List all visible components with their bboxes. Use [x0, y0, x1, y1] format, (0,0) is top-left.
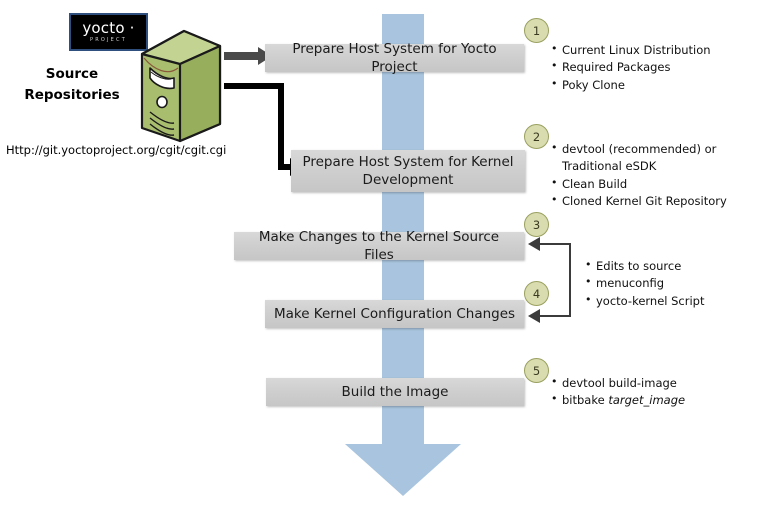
bullet-list-step-5: devtool build-image bitbake target_image — [551, 375, 685, 410]
list-item: Current Linux Distribution — [551, 42, 711, 59]
list-item: Poky Clone — [551, 77, 711, 94]
bitbake-target-image: target_image — [608, 393, 685, 407]
bullet-list-step-1: Current Linux Distribution Required Pack… — [551, 42, 711, 94]
list-item: Edits to source — [585, 258, 705, 275]
connector-server-to-step1 — [224, 52, 260, 60]
source-label-line2: Repositories — [8, 85, 136, 106]
step-circle-3: 3 — [524, 212, 549, 237]
list-item: Cloned Kernel Git Repository — [551, 193, 727, 210]
step-circle-5: 5 — [524, 358, 549, 383]
step-circle-2: 2 — [524, 124, 549, 149]
connector-server-to-step2-horizontal — [224, 83, 284, 89]
bracket-top-step-3 — [540, 243, 571, 245]
diagram-canvas: yocto · PROJECT Source Repositories Http… — [0, 0, 769, 517]
connector-server-to-step2-vertical — [278, 83, 284, 170]
list-item: devtool build-image — [551, 375, 685, 392]
server-tower-icon — [138, 28, 224, 144]
bullet-list-steps-3-4: Edits to source menuconfig yocto-kernel … — [585, 258, 705, 310]
source-repository-url: Http://git.yoctoproject.org/cgit/cgit.cg… — [6, 143, 226, 157]
yocto-project-logo: yocto · PROJECT — [69, 13, 148, 51]
step-circle-1: 1 — [524, 18, 549, 43]
flow-arrowhead-icon — [345, 444, 461, 496]
bracket-bottom-step-4 — [540, 315, 571, 317]
step-circle-4: 4 — [524, 281, 549, 306]
process-box-step-3[interactable]: Make Changes to the Kernel Source Files — [234, 232, 524, 260]
process-box-step-5[interactable]: Build the Image — [266, 378, 524, 406]
source-label-line1: Source — [8, 64, 136, 85]
list-item: yocto-kernel Script — [585, 293, 705, 310]
list-item: Required Packages — [551, 59, 711, 76]
list-item: devtool (recommended) or Traditional eSD… — [551, 141, 727, 176]
process-box-step-2[interactable]: Prepare Host System for Kernel Developme… — [291, 150, 525, 192]
yocto-logo-wordmark: yocto · — [82, 21, 134, 36]
arrowhead-to-step3-icon — [528, 237, 540, 251]
list-item-italic: bitbake target_image — [551, 392, 685, 409]
source-repositories-label: Source Repositories — [8, 64, 136, 106]
list-item: menuconfig — [585, 275, 705, 292]
yocto-logo-subtext: PROJECT — [90, 38, 127, 43]
bitbake-prefix: bitbake — [562, 393, 608, 407]
process-box-step-1[interactable]: Prepare Host System for Yocto Project — [265, 44, 524, 72]
process-box-step-4[interactable]: Make Kernel Configuration Changes — [265, 300, 524, 328]
arrowhead-to-step4-icon — [528, 309, 540, 323]
bracket-vertical-steps-3-4 — [569, 243, 571, 317]
bullet-list-step-2: devtool (recommended) or Traditional eSD… — [551, 141, 727, 210]
list-item: Clean Build — [551, 176, 727, 193]
